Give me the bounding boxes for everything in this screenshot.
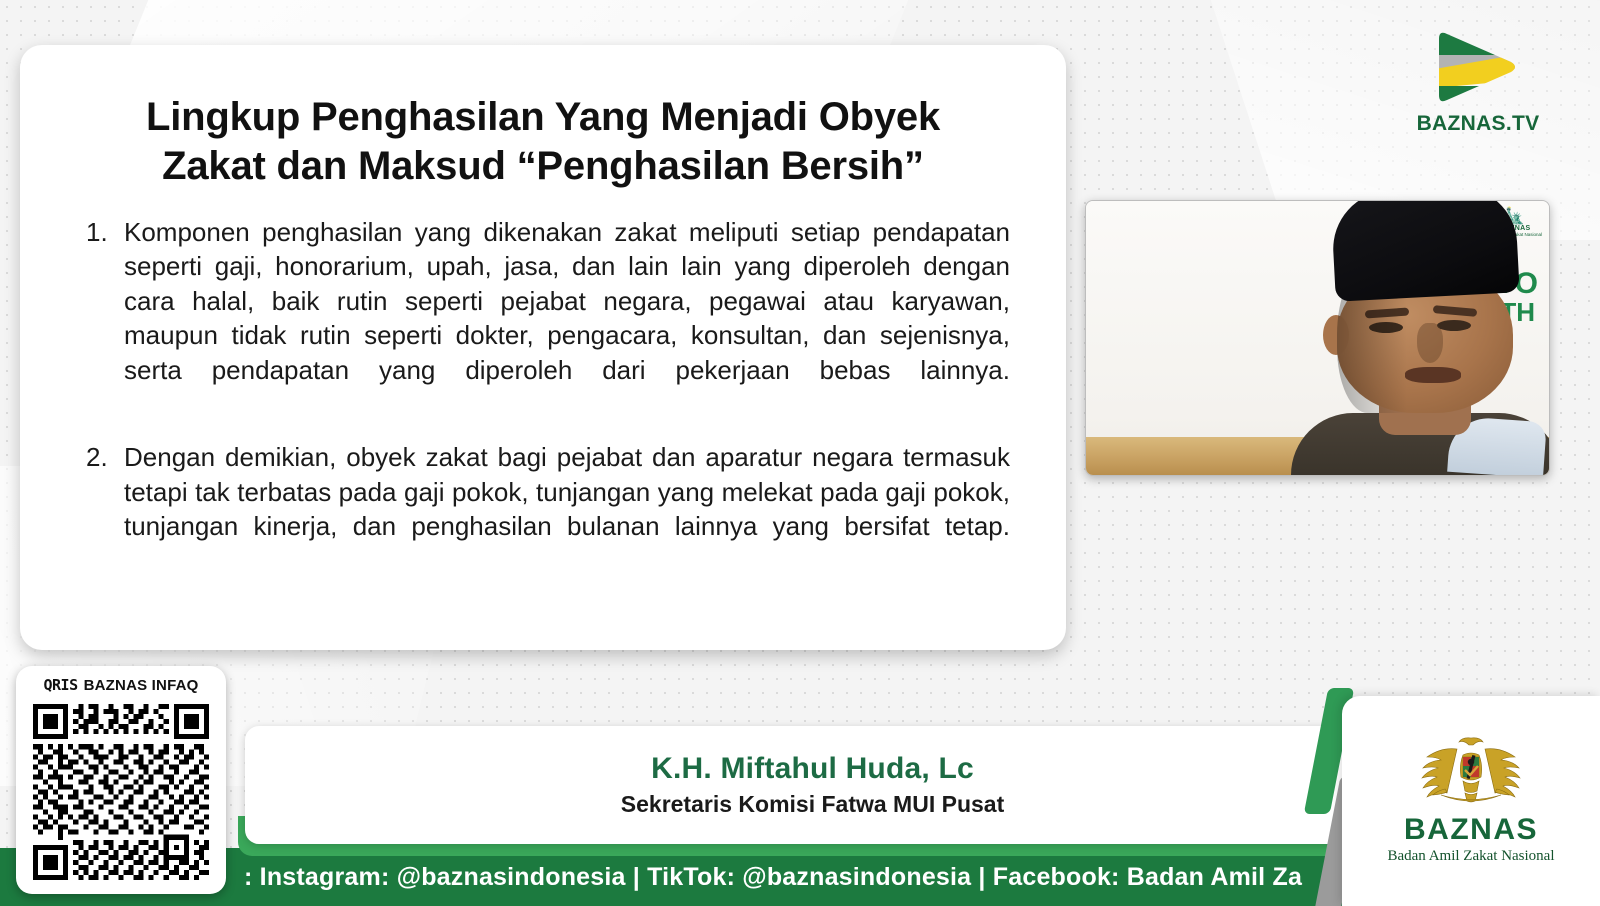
slide-item-text: Dengan demikian, obyek zakat bagi pejaba… <box>124 440 1010 578</box>
baznas-logo-panel: BAZNAS Badan Amil Zakat Nasional <box>1342 696 1600 906</box>
speaker-figure <box>1301 225 1550 475</box>
slide-item-number: 2. <box>76 440 124 475</box>
broadcast-stage: Lingkup Penghasilan Yang Menjadi Obyek Z… <box>0 0 1600 906</box>
qris-logo: QRIS <box>43 676 77 694</box>
speaker-peci-cap <box>1330 200 1519 302</box>
slide-bullet-list: 1. Komponen penghasilan yang dikenakan z… <box>76 215 1010 579</box>
slide-item-number: 1. <box>76 215 124 250</box>
slide-list-item: 2. Dengan demikian, obyek zakat bagi pej… <box>76 440 1010 578</box>
garuda-pancasila-icon <box>1419 737 1523 809</box>
speaker-name: K.H. Miftahul Huda, Lc <box>651 752 974 786</box>
lower-third-name-banner: K.H. Miftahul Huda, Lc Sekretaris Komisi… <box>245 726 1380 844</box>
speaker-title: Sekretaris Komisi Fatwa MUI Pusat <box>621 791 1004 818</box>
slide-item-text: Komponen penghasilan yang dikenakan zaka… <box>124 215 1010 422</box>
play-triangle-icon <box>1435 28 1521 106</box>
baznas-tv-wordmark: BAZNAS.TV <box>1378 112 1578 136</box>
speaker-mouth <box>1405 367 1461 383</box>
baznas-wordmark: BAZNAS <box>1404 813 1538 847</box>
qr-card-label: BAZNAS INFAQ <box>84 677 199 694</box>
baznas-tv-logo: BAZNAS.TV <box>1378 28 1578 136</box>
baznas-tagline: Badan Amil Zakat Nasional <box>1387 848 1554 865</box>
speaker-eye-right <box>1437 320 1471 331</box>
speaker-nose <box>1417 323 1443 363</box>
slide-title: Lingkup Penghasilan Yang Menjadi Obyek Z… <box>76 93 1010 191</box>
slide-list-item: 1. Komponen penghasilan yang dikenakan z… <box>76 215 1010 422</box>
qris-infaq-card[interactable]: QRIS BAZNAS INFAQ <box>16 666 226 894</box>
speaker-video-feed[interactable]: 🗽 BAZNAS Badan Amil Zakat Nasional AR TO… <box>1085 200 1550 476</box>
qr-code-icon[interactable] <box>28 699 214 885</box>
qr-card-header: QRIS BAZNAS INFAQ <box>26 674 216 696</box>
presentation-slide-card: Lingkup Penghasilan Yang Menjadi Obyek Z… <box>20 45 1066 650</box>
